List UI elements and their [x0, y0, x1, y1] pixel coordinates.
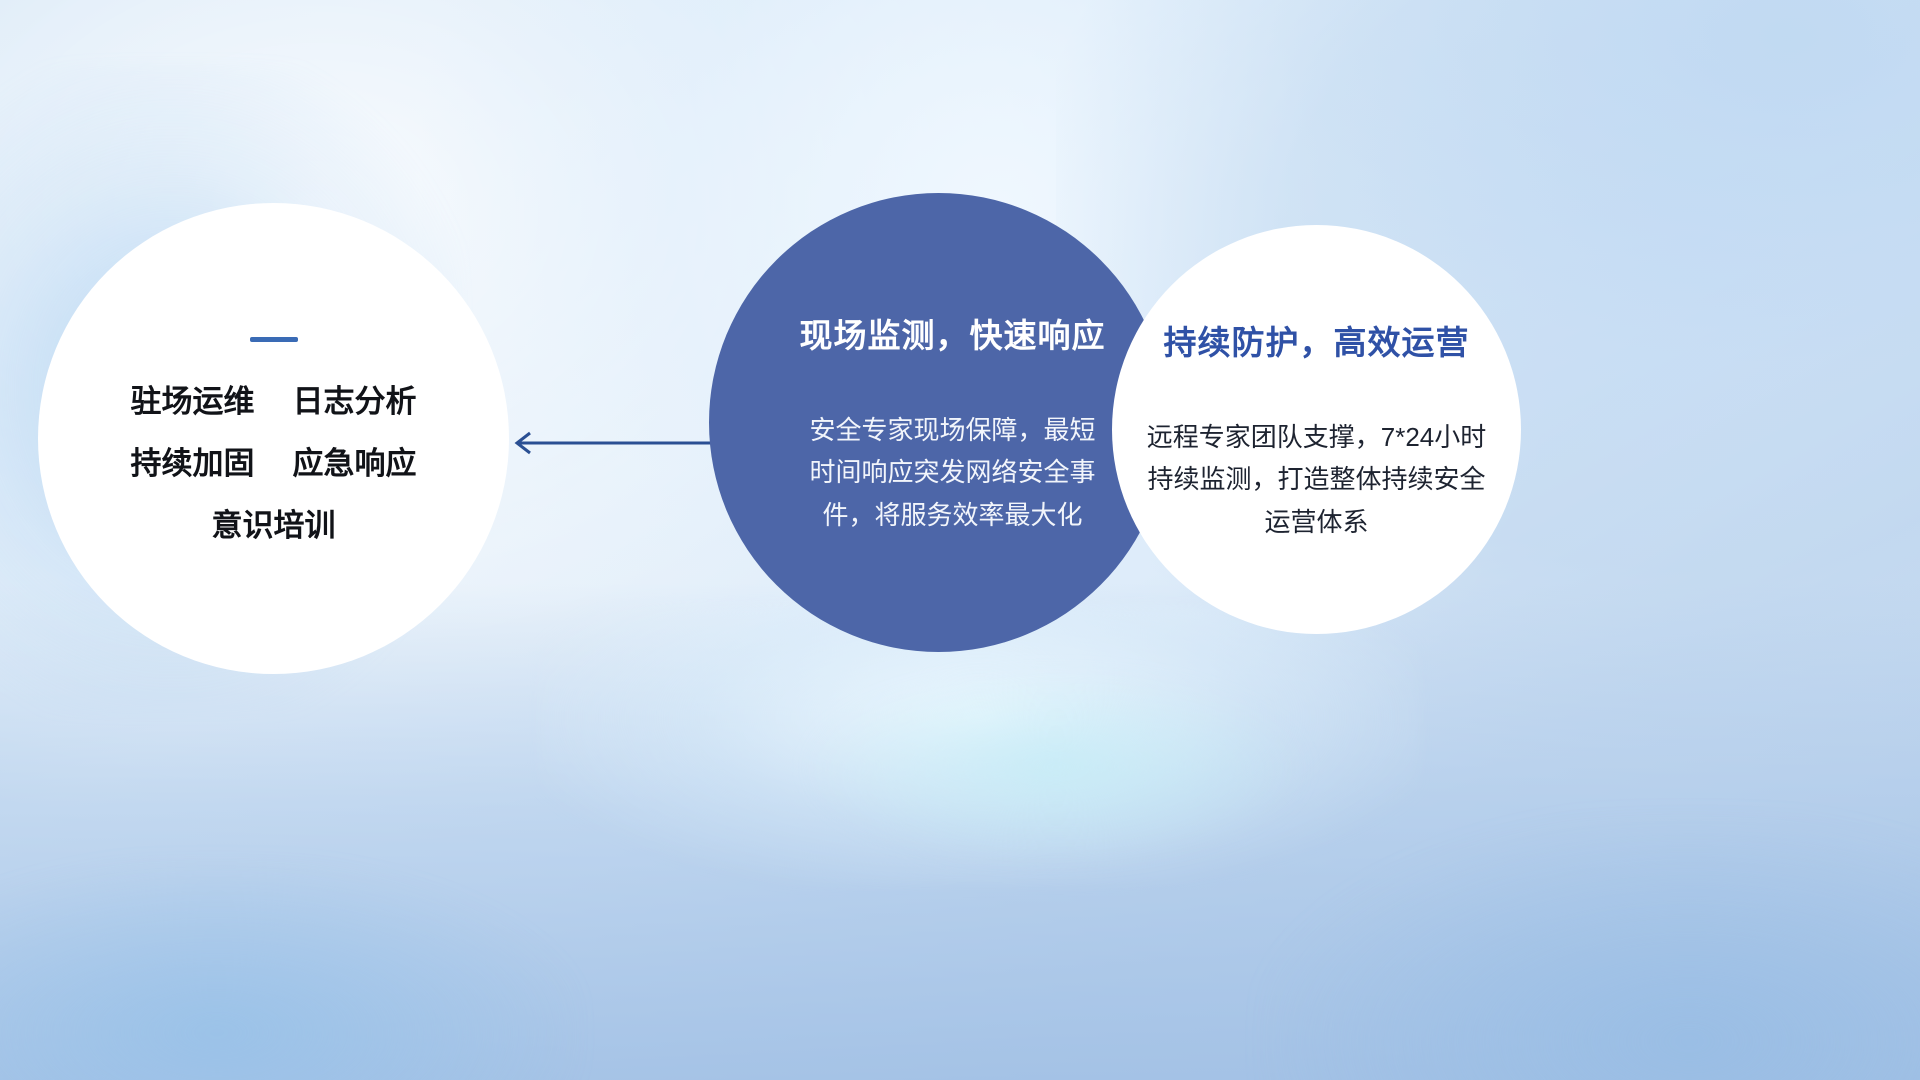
- keyword-chip: 应急响应: [293, 448, 417, 479]
- node-body: 远程专家团队支撑，7*24小时持续监测，打造整体持续安全运营体系: [1142, 416, 1492, 542]
- keyword-chip: 日志分析: [293, 386, 417, 417]
- node-body: 安全专家现场保障，最短时间响应突发网络安全事件，将服务效率最大化: [810, 409, 1096, 535]
- keyword-chip: 意识培训: [212, 510, 336, 541]
- node-onsite-capabilities[interactable]: 驻场运维 日志分析 持续加固 应急响应 意识培训: [38, 203, 509, 674]
- node-title: 现场监测，快速响应: [800, 309, 1106, 357]
- node-title: 持续防护，高效运营: [1164, 316, 1470, 364]
- leftward-arrow: [498, 430, 730, 456]
- keyword-row: 持续加固 应急响应: [131, 448, 417, 479]
- keyword-row: 驻场运维 日志分析: [131, 386, 417, 417]
- node-continuous-protection[interactable]: 持续防护，高效运营 远程专家团队支撑，7*24小时持续监测，打造整体持续安全运营…: [1112, 225, 1521, 634]
- divider-dash: [250, 337, 298, 342]
- leftward-arrow-icon: [498, 430, 730, 456]
- node-onsite-monitoring[interactable]: 现场监测，快速响应 安全专家现场保障，最短时间响应突发网络安全事件，将服务效率最…: [709, 193, 1168, 652]
- diagram-stage: 驻场运维 日志分析 持续加固 应急响应 意识培训 现场监测，快速响应 安全专家现…: [0, 0, 1920, 1080]
- keyword-chip: 驻场运维: [131, 386, 255, 417]
- keyword-chip: 持续加固: [131, 448, 255, 479]
- keyword-row: 意识培训: [212, 510, 336, 541]
